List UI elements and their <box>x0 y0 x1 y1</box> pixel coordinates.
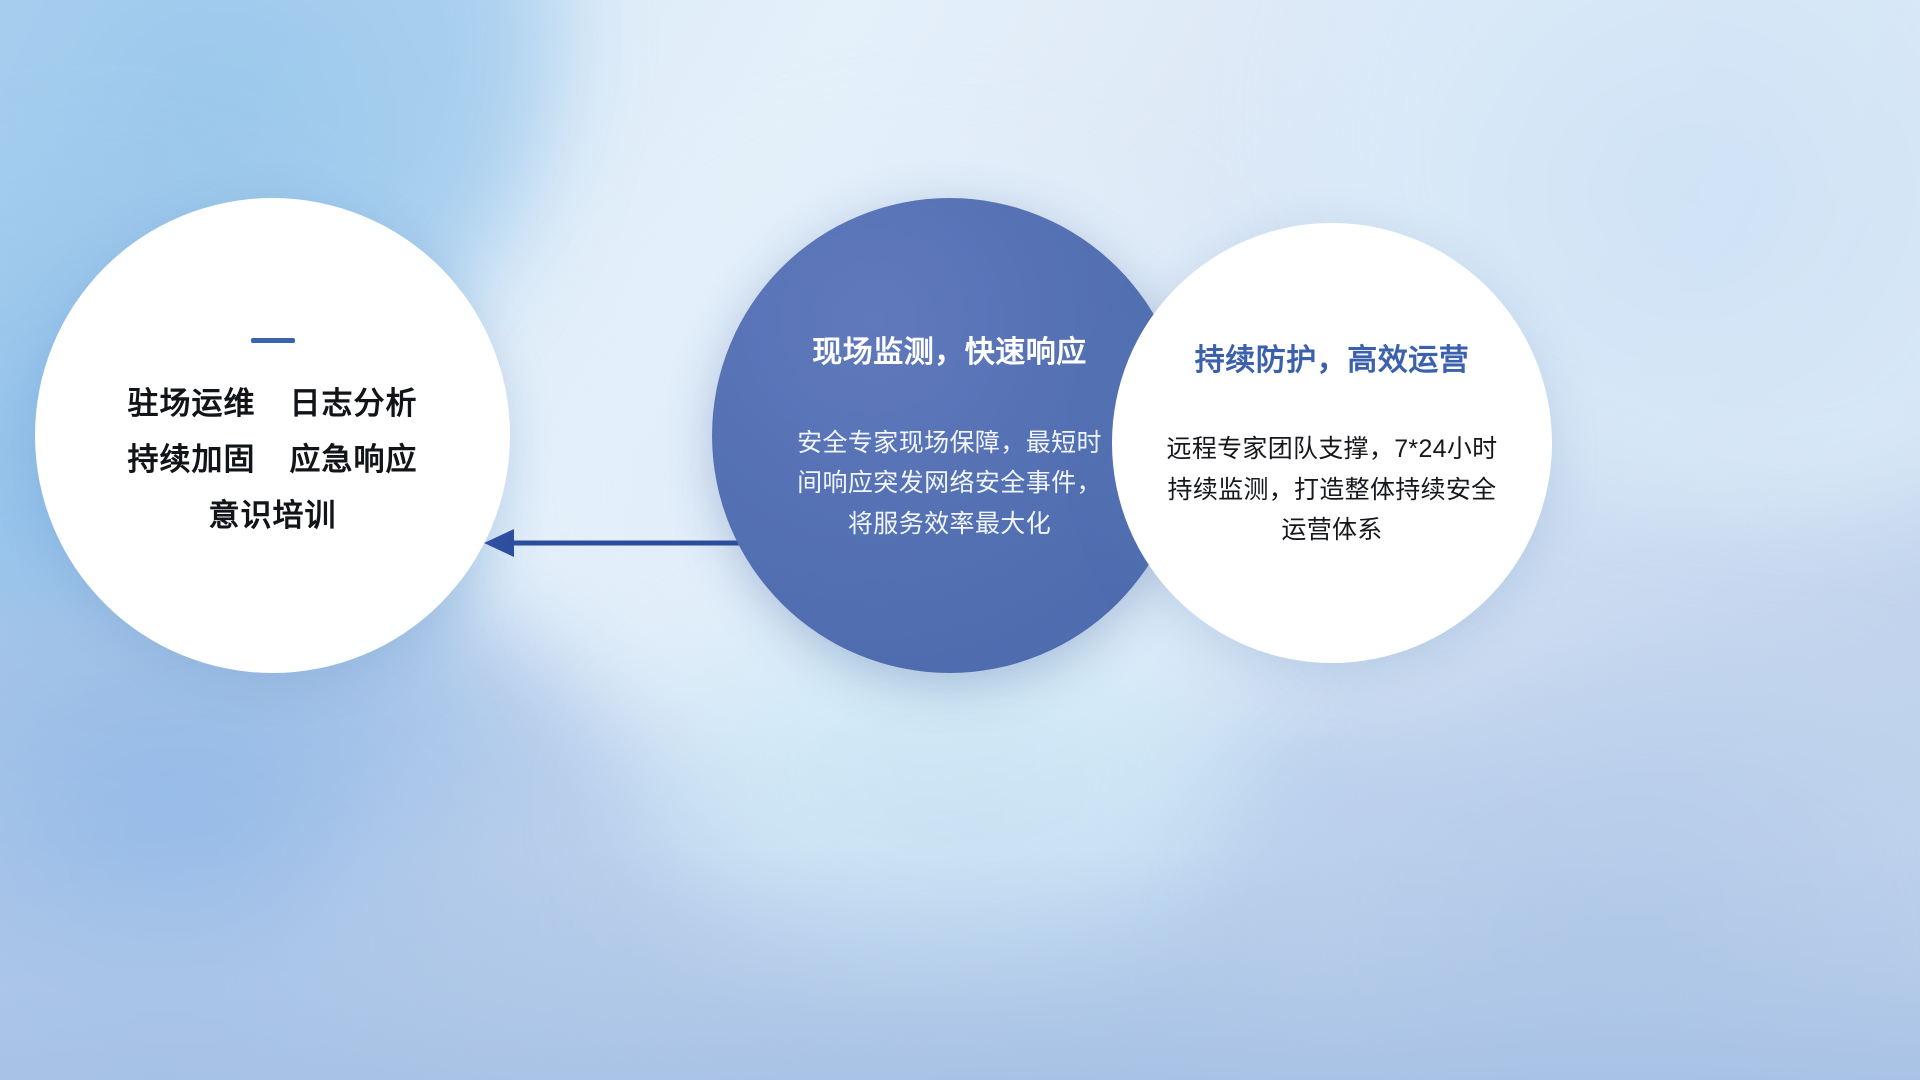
accent-dash <box>251 338 295 343</box>
node-continuous-operation[interactable]: 持续防护，高效运营 远程专家团队支撑，7*24小时持续监测，打造整体持续安全运营… <box>1112 223 1552 663</box>
arrow-left-icon <box>470 498 760 588</box>
capability-item: 意识培训 <box>209 499 337 533</box>
capability-item: 驻场运维 <box>128 387 256 421</box>
node-description: 远程专家团队支撑，7*24小时持续监测，打造整体持续安全运营体系 <box>1157 429 1507 551</box>
capability-row: 驻场运维 日志分析 <box>128 387 418 421</box>
capability-row: 意识培训 <box>128 499 418 533</box>
background-blob-bottom <box>260 700 1760 1080</box>
capability-item: 日志分析 <box>290 387 418 421</box>
capability-item: 持续加固 <box>128 443 256 477</box>
node-description: 安全专家现场保障，最短时间响应突发网络安全事件，将服务效率最大化 <box>795 423 1105 545</box>
background-bottom-band <box>0 850 1920 1080</box>
capability-item: 应急响应 <box>290 443 418 477</box>
node-capabilities[interactable]: 驻场运维 日志分析 持续加固 应急响应 意识培训 <box>35 198 510 673</box>
node-title: 现场监测，快速响应 <box>812 327 1087 371</box>
background-blob-bottom-right <box>1220 660 1920 1080</box>
diagram-canvas: 驻场运维 日志分析 持续加固 应急响应 意识培训 现场监测，快速响应 安全专家现… <box>0 0 1920 1080</box>
capability-list: 驻场运维 日志分析 持续加固 应急响应 意识培训 <box>128 387 418 533</box>
node-title: 持续防护，高效运营 <box>1195 335 1470 379</box>
capability-row: 持续加固 应急响应 <box>128 443 418 477</box>
